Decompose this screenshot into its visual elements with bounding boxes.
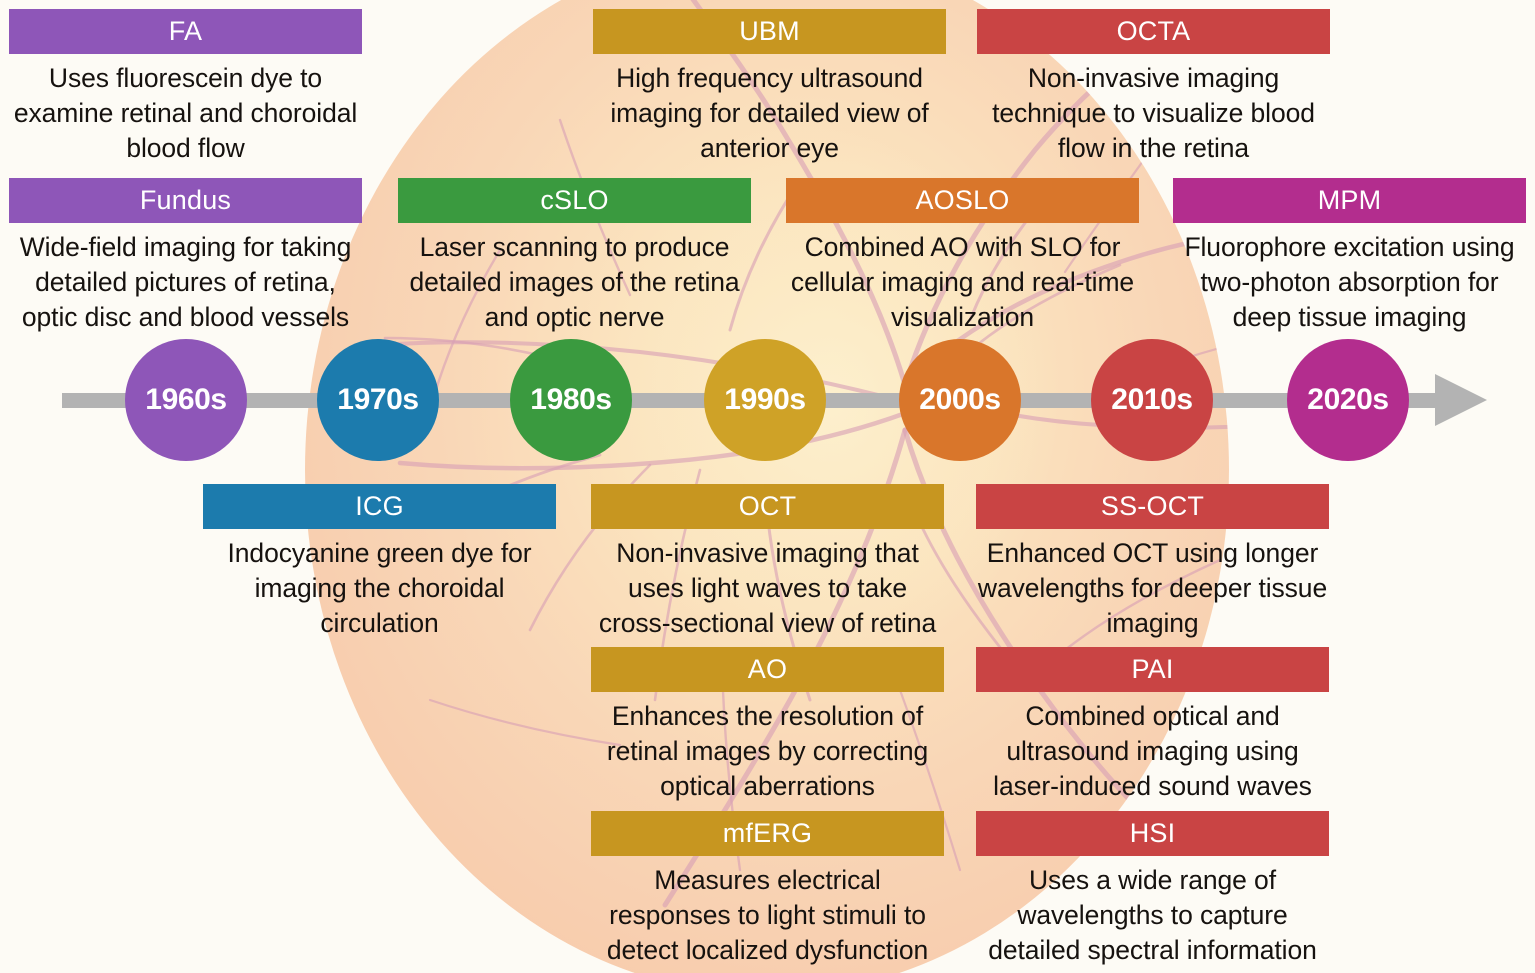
modality-card-cslo: cSLOLaser scanning to produce detailed i… (398, 178, 751, 336)
timeline-arrow-icon (1435, 374, 1487, 426)
modality-card-description: Laser scanning to produce detailed image… (398, 230, 751, 336)
modality-card-description: Combined optical and ultrasound imaging … (976, 699, 1329, 805)
modality-card-title: AO (591, 647, 944, 692)
timeline-decade-2000s[interactable]: 2000s (899, 339, 1021, 461)
modality-card-title: OCT (591, 484, 944, 529)
modality-card-pai: PAICombined optical and ultrasound imagi… (976, 647, 1329, 805)
modality-card-octa: OCTANon-invasive imaging technique to vi… (977, 9, 1330, 167)
modality-card-title: cSLO (398, 178, 751, 223)
modality-card-fundus: FundusWide-field imaging for taking deta… (9, 178, 362, 336)
modality-card-title: OCTA (977, 9, 1330, 54)
timeline-decade-1960s[interactable]: 1960s (125, 339, 247, 461)
modality-card-description: Wide-field imaging for taking detailed p… (9, 230, 362, 336)
modality-card-description: Indocyanine green dye for imaging the ch… (203, 536, 556, 642)
modality-card-hsi: HSIUses a wide range of wavelengths to c… (976, 811, 1329, 969)
timeline-decade-2020s[interactable]: 2020s (1287, 339, 1409, 461)
modality-card-aoslo: AOSLOCombined AO with SLO for cellular i… (786, 178, 1139, 336)
timeline-decade-1990s[interactable]: 1990s (704, 339, 826, 461)
modality-card-description: Combined AO with SLO for cellular imagin… (786, 230, 1139, 336)
modality-card-title: mfERG (591, 811, 944, 856)
modality-card-title: MPM (1173, 178, 1526, 223)
modality-card-description: Measures electrical responses to light s… (591, 863, 944, 969)
modality-card-mpm: MPMFluorophore excitation using two-phot… (1173, 178, 1526, 336)
modality-card-description: Non-invasive imaging that uses light wav… (591, 536, 944, 642)
modality-card-title: ICG (203, 484, 556, 529)
modality-card-title: SS-OCT (976, 484, 1329, 529)
modality-card-ao: AOEnhances the resolution of retinal ima… (591, 647, 944, 805)
modality-card-title: FA (9, 9, 362, 54)
modality-card-description: Uses a wide range of wavelengths to capt… (976, 863, 1329, 969)
modality-card-title: UBM (593, 9, 946, 54)
modality-card-oct: OCTNon-invasive imaging that uses light … (591, 484, 944, 642)
modality-card-description: Enhances the resolution of retinal image… (591, 699, 944, 805)
modality-card-description: Non-invasive imaging technique to visual… (977, 61, 1330, 167)
modality-card-title: AOSLO (786, 178, 1139, 223)
modality-card-mferg: mfERGMeasures electrical responses to li… (591, 811, 944, 969)
modality-card-ss-oct: SS-OCTEnhanced OCT using longer waveleng… (976, 484, 1329, 642)
modality-card-title: Fundus (9, 178, 362, 223)
timeline-decade-1980s[interactable]: 1980s (510, 339, 632, 461)
modality-card-icg: ICGIndocyanine green dye for imaging the… (203, 484, 556, 642)
modality-card-description: Fluorophore excitation using two-photon … (1173, 230, 1526, 336)
modality-card-fa: FAUses fluorescein dye to examine retina… (9, 9, 362, 167)
modality-card-title: PAI (976, 647, 1329, 692)
modality-card-description: High frequency ultrasound imaging for de… (593, 61, 946, 167)
modality-card-description: Enhanced OCT using longer wavelengths fo… (976, 536, 1329, 642)
modality-card-description: Uses fluorescein dye to examine retinal … (9, 61, 362, 167)
timeline-decade-2010s[interactable]: 2010s (1091, 339, 1213, 461)
modality-card-ubm: UBMHigh frequency ultrasound imaging for… (593, 9, 946, 167)
timeline-figure: FAUses fluorescein dye to examine retina… (0, 0, 1535, 973)
timeline-decade-1970s[interactable]: 1970s (317, 339, 439, 461)
modality-card-title: HSI (976, 811, 1329, 856)
